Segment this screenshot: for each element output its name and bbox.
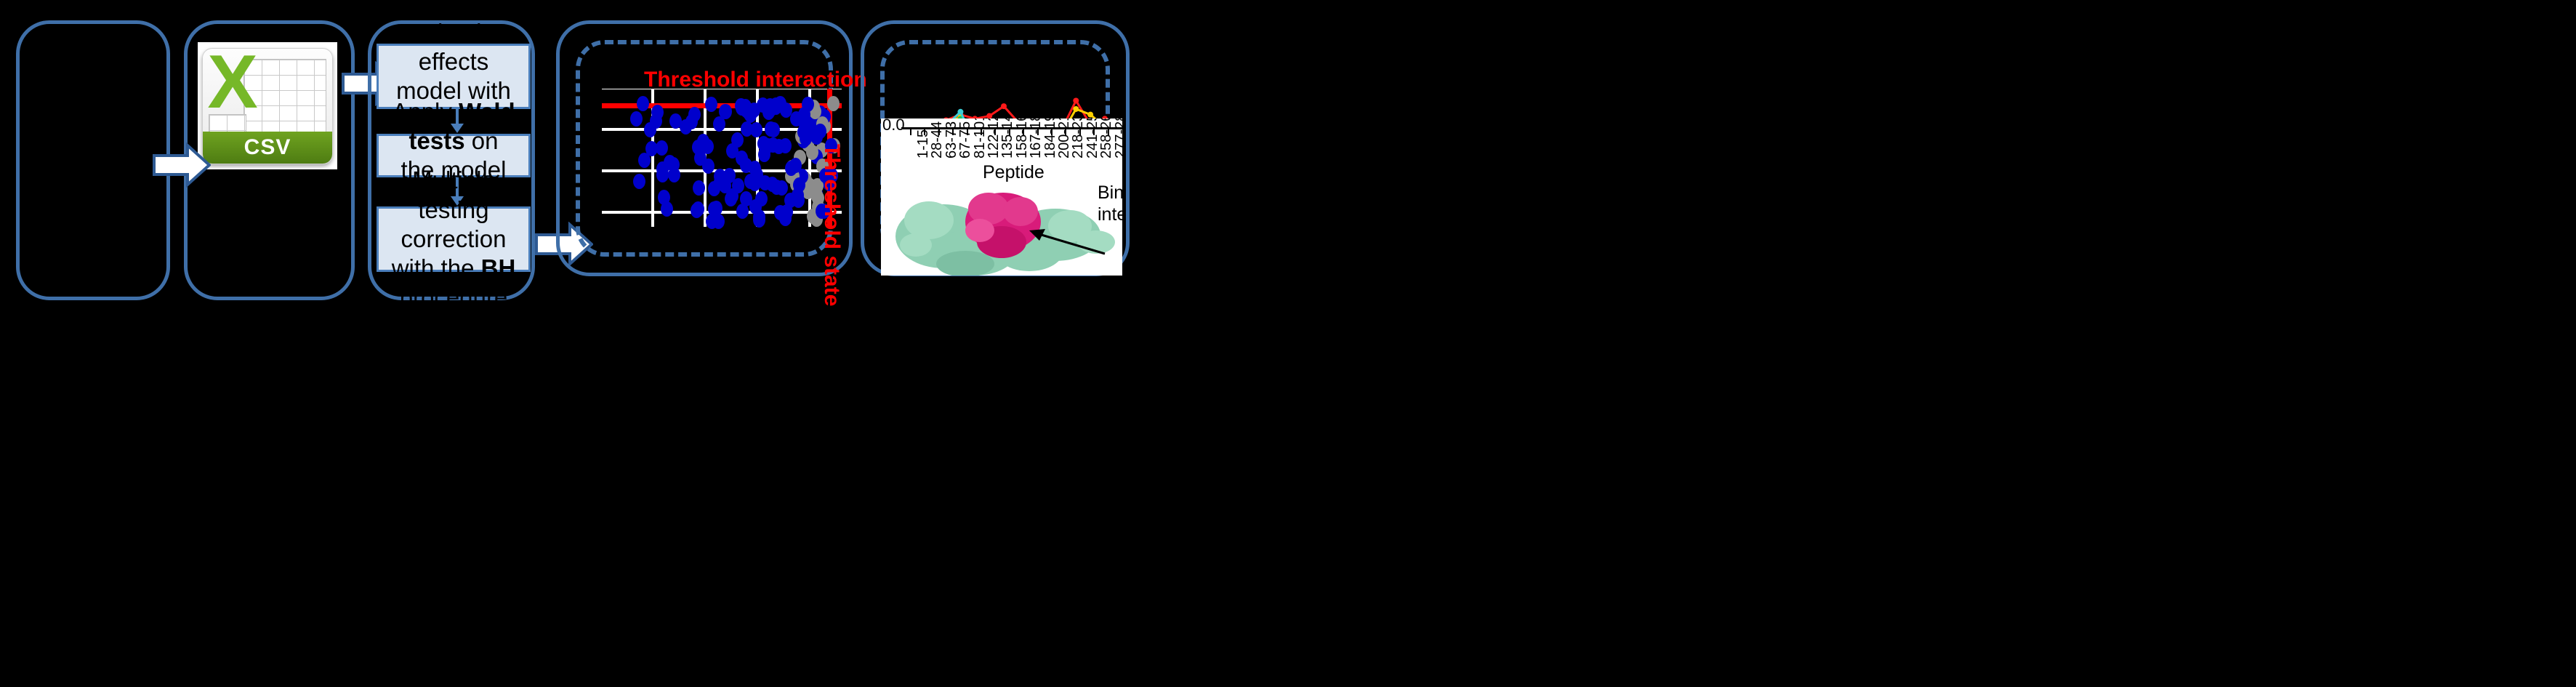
volcano-point-significant xyxy=(800,131,812,146)
fit-model-line1: Fit a linear mixed- xyxy=(398,0,510,46)
volcano-point-significant xyxy=(693,180,705,196)
volcano-point-significant xyxy=(802,97,814,112)
csv-label: CSV xyxy=(203,132,332,164)
excel-x-glyph: X xyxy=(206,50,259,117)
volcano-point-significant xyxy=(725,191,737,206)
volcano-point-significant xyxy=(779,211,792,226)
series-marker-s-yellow xyxy=(1073,106,1079,112)
bh-line3-pre: with the xyxy=(392,254,481,281)
flowchart-figure: X CSV Fit a linear mixed- effects model … xyxy=(0,0,2576,687)
csv-icon-body: X CSV xyxy=(202,48,333,164)
volcano-point-significant xyxy=(638,153,651,168)
volcano-point-significant xyxy=(688,107,701,122)
volcano-point-significant xyxy=(749,176,761,191)
volcano-point-significant xyxy=(713,116,725,132)
series-marker-s-cyan xyxy=(957,109,963,115)
volcano-point-nonsignificant xyxy=(827,96,840,111)
volcano-point-significant xyxy=(757,97,769,113)
volcano-point-significant xyxy=(785,161,797,176)
volcano-point-significant xyxy=(776,180,788,196)
volcano-point-significant xyxy=(750,122,762,137)
volcano-point-significant xyxy=(637,96,649,111)
series-marker-s-red xyxy=(1001,103,1007,109)
volcano-plot xyxy=(602,89,842,227)
bh-line3-post: procedure xyxy=(400,284,508,310)
volcano-point-significant xyxy=(706,214,718,229)
volcano-point-significant xyxy=(749,161,761,176)
series-marker-s-red xyxy=(1073,97,1079,103)
binding-interface-line2: interface xyxy=(1098,204,1122,226)
volcano-point-significant xyxy=(814,124,826,139)
protein-structure-image xyxy=(887,182,1122,276)
volcano-point-significant xyxy=(669,113,682,129)
bh-line2: correction xyxy=(401,225,507,252)
threshold-interaction-label: Threshold interaction xyxy=(644,68,867,92)
volcano-point-significant xyxy=(731,132,744,148)
threshold-state-label: Threshold state xyxy=(819,144,844,306)
binding-interface-label: Binding interface xyxy=(1098,182,1122,225)
volcano-points-layer xyxy=(602,89,842,227)
volcano-point-significant xyxy=(768,122,780,137)
volcano-point-significant xyxy=(658,190,670,205)
volcano-point-significant xyxy=(743,105,755,121)
structure-figure-panel: 0.0 1-1528-4463-7367-7581-101122-129135-… xyxy=(881,118,1122,276)
process-box-bh-correction: Multiple testing correction with the BH … xyxy=(377,206,531,272)
series-marker-s-yellow xyxy=(1087,112,1093,118)
binding-interface-line1: Binding xyxy=(1098,182,1122,204)
volcano-point-significant xyxy=(770,97,782,113)
peptide-tick-label: 277-284 xyxy=(1113,118,1122,158)
bh-line1: Multiple testing xyxy=(412,166,495,222)
volcano-point-significant xyxy=(656,140,668,156)
csv-file-icon: X CSV xyxy=(198,42,337,169)
peptide-axis-title: Peptide xyxy=(983,162,1045,183)
volcano-point-significant xyxy=(701,139,714,154)
volcano-point-significant xyxy=(664,155,676,170)
stage-input-panel xyxy=(16,20,170,300)
volcano-point-significant xyxy=(705,97,717,112)
wald-post: on xyxy=(465,127,499,154)
fit-model-line2: effects model with xyxy=(396,48,511,104)
arrow-input-to-csv xyxy=(153,142,211,188)
volcano-point-significant xyxy=(702,158,715,174)
volcano-point-significant xyxy=(692,201,704,217)
bh-bold: BH xyxy=(481,254,516,281)
volcano-point-significant xyxy=(758,147,770,162)
process-box-bh-text: Multiple testing correction with the BH … xyxy=(386,166,521,312)
volcano-point-significant xyxy=(633,174,645,189)
volcano-point-significant xyxy=(736,204,749,219)
volcano-point-significant xyxy=(650,113,662,129)
volcano-point-significant xyxy=(656,167,669,182)
wald-pre: Apply xyxy=(392,98,459,125)
volcano-point-significant xyxy=(630,111,643,126)
